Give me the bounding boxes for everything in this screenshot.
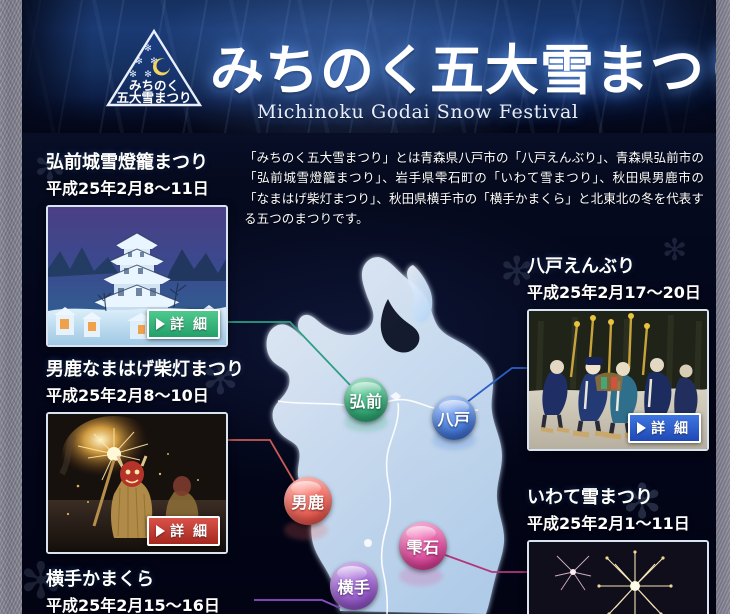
festival-card-hirosaki: 弘前城雪燈籠まつり 平成25年2月8〜11日: [46, 148, 228, 347]
intro-paragraph: 「みちのく五大雪まつり」とは青森県八戸市の「八戸えんぶり」、青森県弘前市の「弘前…: [244, 148, 704, 229]
play-triangle-icon: [156, 318, 165, 330]
site-header: ✻ ✻ ✻ ✻ ✻ みちのく 五大雪まつり みちのく五大雪まつり Michino…: [22, 0, 716, 133]
detail-button-oga[interactable]: 詳 細: [147, 516, 220, 546]
festival-card-hachinohe: 八戸えんぶり 平成25年2月17〜20日: [527, 252, 709, 451]
festival-photo-hirosaki[interactable]: 詳 細: [46, 205, 228, 347]
play-triangle-icon: [156, 525, 165, 537]
content-stage: ✻ ✻ ✻ ✻ ✻ みちのく 五大雪まつり みちのく五大雪まつり Michino…: [22, 0, 716, 614]
detail-button-label: 詳 細: [170, 521, 209, 541]
page-root: ✻ ✻ ✻ ✻ ✻ みちのく 五大雪まつり みちのく五大雪まつり Michino…: [0, 0, 730, 614]
festival-card-iwate: いわて雪まつり 平成25年2月1〜11日: [527, 483, 709, 614]
tohoku-region-map: [240, 253, 540, 614]
festival-title-oga: 男鹿なまはげ柴灯まつり: [46, 355, 244, 381]
festival-date-iwate: 平成25年2月1〜11日: [527, 510, 709, 534]
map-pin-yokote[interactable]: 横手: [330, 562, 378, 610]
play-triangle-icon: [637, 422, 646, 434]
map-pin-hirosaki[interactable]: 弘前: [344, 378, 388, 422]
detail-button-label: 詳 細: [651, 418, 690, 438]
detail-button-hachinohe[interactable]: 詳 細: [628, 413, 701, 443]
snow-triangle-logo-icon[interactable]: ✻ ✻ ✻ ✻ ✻ みちのく 五大雪まつり: [105, 28, 203, 108]
detail-button-hirosaki[interactable]: 詳 細: [147, 309, 220, 339]
logo-line-2: 五大雪まつり: [116, 90, 191, 105]
page-title: みちのく五大雪まつり: [210, 26, 716, 105]
detail-button-label: 詳 細: [170, 314, 209, 334]
festival-date-yokote: 平成25年2月15〜16日: [46, 592, 220, 614]
map-pin-oga[interactable]: 男鹿: [284, 477, 332, 525]
festival-date-hachinohe: 平成25年2月17〜20日: [527, 279, 709, 303]
svg-text:✻: ✻: [135, 57, 143, 67]
festival-card-oga: 男鹿なまはげ柴灯まつり 平成25年2月8〜10日: [46, 355, 244, 554]
header-vignette-left: [22, 0, 92, 133]
festival-title-hachinohe: 八戸えんぶり: [527, 252, 709, 278]
festival-photo-hachinohe[interactable]: 詳 細: [527, 309, 709, 451]
svg-text:✻: ✻: [144, 44, 152, 54]
festival-photo-iwate[interactable]: 詳 細: [527, 540, 709, 614]
festival-title-iwate: いわて雪まつり: [527, 483, 709, 509]
page-subtitle: Michinoku Godai Snow Festival: [257, 101, 579, 123]
map-pin-hachinohe[interactable]: 八戸: [432, 396, 476, 440]
festival-photo-oga[interactable]: 詳 細: [46, 412, 228, 554]
iwate-fireworks-scene: [529, 542, 707, 614]
festival-title-yokote: 横手かまくら: [46, 565, 220, 591]
festival-title-hirosaki: 弘前城雪燈籠まつり: [46, 148, 228, 174]
page-left-gutter: [0, 0, 22, 614]
map-pin-shizukuishi[interactable]: 雫石: [399, 522, 447, 570]
festival-date-hirosaki: 平成25年2月8〜11日: [46, 175, 228, 199]
festival-card-yokote: 横手かまくら 平成25年2月15〜16日: [46, 565, 220, 614]
page-right-gutter: [716, 0, 730, 614]
festival-date-oga: 平成25年2月8〜10日: [46, 382, 244, 406]
